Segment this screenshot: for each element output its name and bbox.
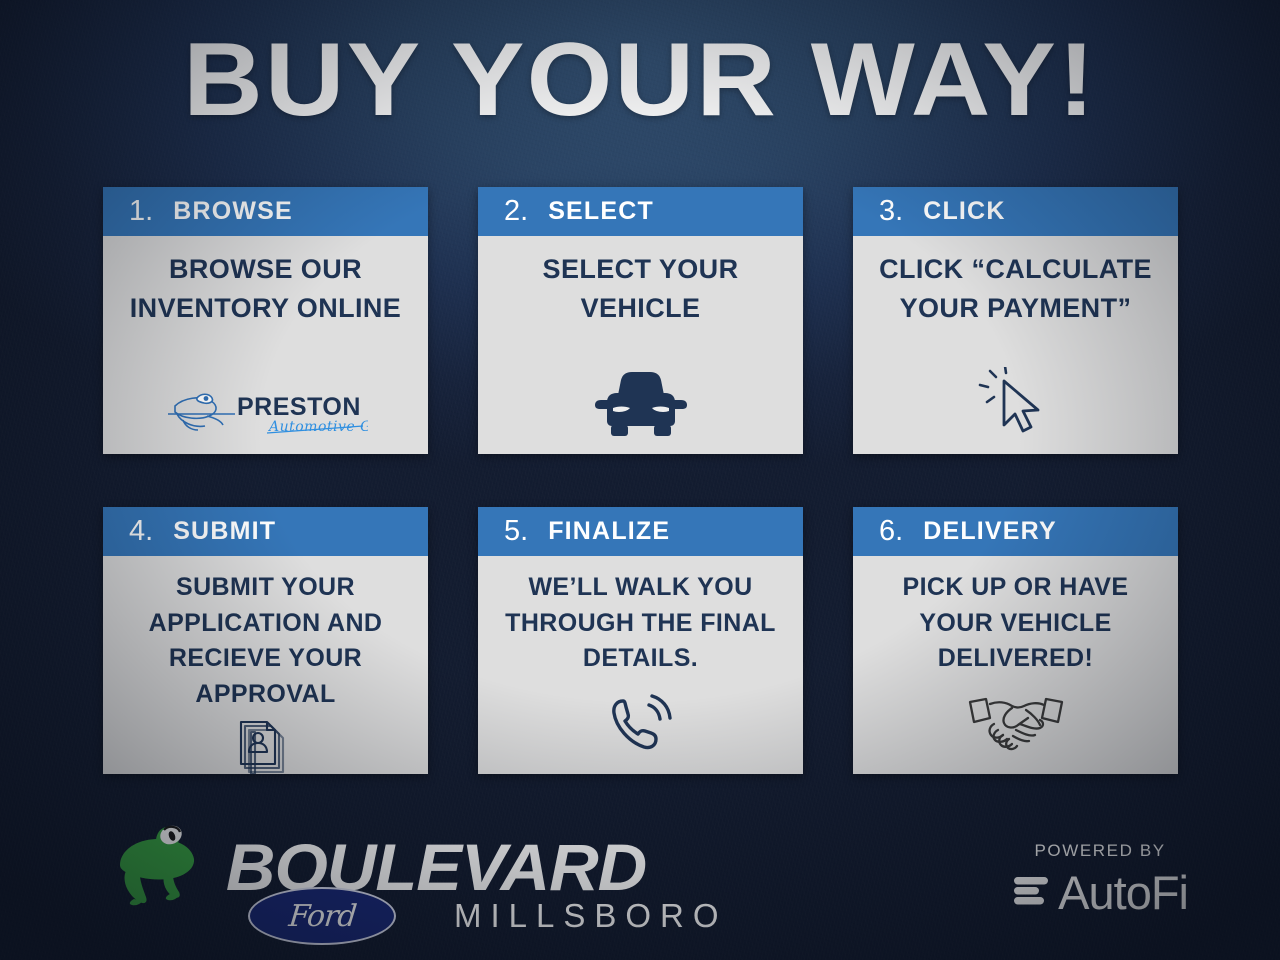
step-header: 4. SUBMIT	[103, 507, 428, 556]
step-label: SUBMIT	[173, 517, 276, 546]
step-number: 3.	[879, 195, 903, 228]
step-description: PICK UP OR HAVE YOUR VEHICLE DELIVERED!	[863, 570, 1168, 677]
step-card-browse[interactable]: 1. BROWSE BROWSE OUR INVENTORY ONLINE	[103, 187, 428, 454]
step-label: SELECT	[548, 197, 654, 226]
step-body: WE’LL WALK YOU THROUGH THE FINAL DETAILS…	[478, 556, 803, 774]
car-front-icon	[587, 366, 695, 440]
step-body: CLICK “CALCULATE YOUR PAYMENT”	[853, 236, 1178, 454]
step-description: BROWSE OUR INVENTORY ONLINE	[113, 250, 418, 327]
step-header: 6. DELIVERY	[853, 507, 1178, 556]
document-person-icon	[231, 712, 301, 774]
dealer-location: MILLSBORO	[454, 897, 728, 935]
frog-mascot-icon	[112, 821, 224, 912]
svg-text:PRESTON: PRESTON	[237, 393, 361, 421]
steps-grid: 1. BROWSE BROWSE OUR INVENTORY ONLINE	[103, 187, 1183, 774]
step-label: FINALIZE	[548, 517, 670, 546]
step-number: 2.	[504, 195, 528, 228]
dealer-sublogo: Ford MILLSBORO	[248, 887, 728, 945]
footer-branding: BOULEVARD Ford MILLSBORO POWERED BY	[0, 815, 1280, 960]
step-body: BROWSE OUR INVENTORY ONLINE	[103, 236, 428, 454]
ford-wordmark: Ford	[287, 899, 357, 934]
step-header: 2. SELECT	[478, 187, 803, 236]
cursor-click-icon	[974, 366, 1058, 440]
step-header: 5. FINALIZE	[478, 507, 803, 556]
step-card-delivery[interactable]: 6. DELIVERY PICK UP OR HAVE YOUR VEHICLE…	[853, 507, 1178, 774]
step-body: SUBMIT YOUR APPLICATION AND RECIEVE YOUR…	[103, 556, 428, 774]
step-body: SELECT YOUR VEHICLE	[478, 236, 803, 454]
step-header: 1. BROWSE	[103, 187, 428, 236]
step-number: 5.	[504, 515, 528, 548]
page-title: BUY YOUR WAY!	[0, 28, 1280, 132]
step-card-submit[interactable]: 4. SUBMIT SUBMIT YOUR APPLICATION AND RE…	[103, 507, 428, 774]
autofi-wordmark: AutoFi	[1058, 869, 1188, 916]
step-body: PICK UP OR HAVE YOUR VEHICLE DELIVERED!	[853, 556, 1178, 774]
step-number: 1.	[129, 195, 153, 228]
step-card-finalize[interactable]: 5. FINALIZE WE’LL WALK YOU THROUGH THE F…	[478, 507, 803, 774]
handshake-icon	[964, 686, 1068, 760]
step-number: 4.	[129, 515, 153, 548]
preston-automotive-group-logo: PRESTON Automotive Group	[163, 390, 368, 436]
step-card-select[interactable]: 2. SELECT SELECT YOUR VEHICLE	[478, 187, 803, 454]
step-label: BROWSE	[173, 197, 293, 226]
autofi-lockup: AutoFi	[1012, 869, 1188, 916]
step-description: CLICK “CALCULATE YOUR PAYMENT”	[863, 250, 1168, 327]
autofi-bars-icon	[1012, 870, 1050, 915]
autofi-partner-logo[interactable]: POWERED BY AutoFi	[1012, 841, 1188, 916]
ford-oval-logo[interactable]: Ford	[248, 887, 396, 945]
step-card-click[interactable]: 3. CLICK CLICK “CALCULATE YOUR PAYMENT”	[853, 187, 1178, 454]
step-label: CLICK	[923, 197, 1005, 226]
step-description: SUBMIT YOUR APPLICATION AND RECIEVE YOUR…	[113, 570, 418, 712]
step-description: WE’LL WALK YOU THROUGH THE FINAL DETAILS…	[488, 570, 793, 677]
step-description: SELECT YOUR VEHICLE	[488, 250, 793, 327]
step-label: DELIVERY	[923, 517, 1057, 546]
step-header: 3. CLICK	[853, 187, 1178, 236]
step-number: 6.	[879, 515, 903, 548]
poster-canvas: BUY YOUR WAY! 1. BROWSE BROWSE OUR INVEN…	[0, 0, 1280, 960]
powered-by-label: POWERED BY	[1012, 841, 1188, 861]
phone-ringing-icon	[603, 686, 679, 760]
